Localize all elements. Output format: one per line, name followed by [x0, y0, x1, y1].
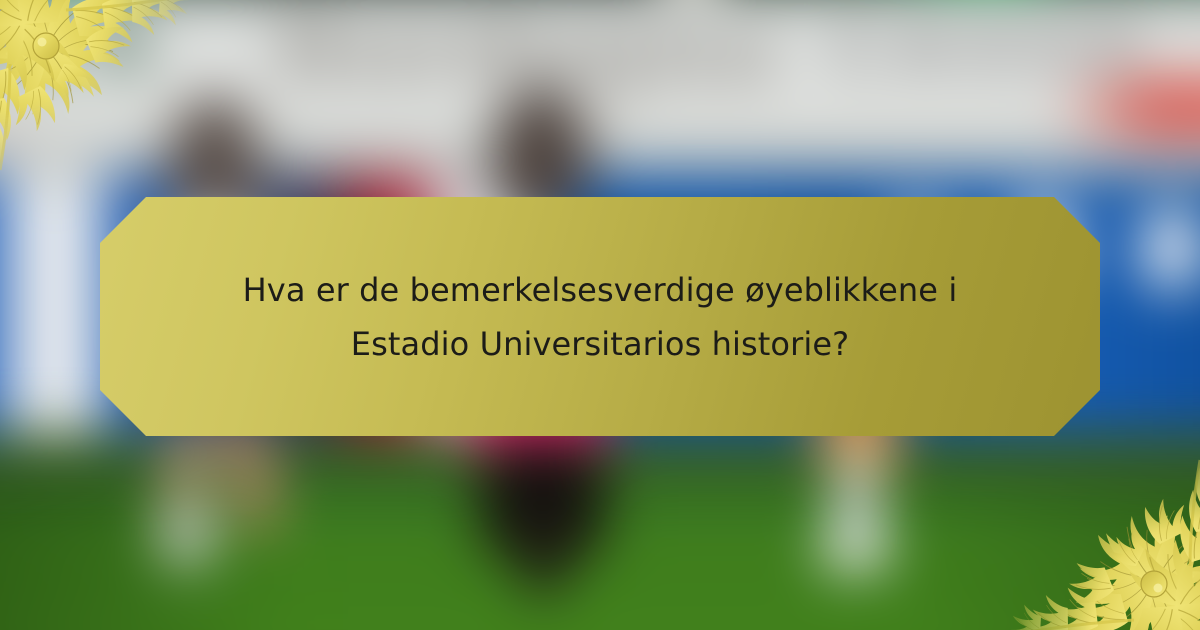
question-line-1: Hva er de bemerkelsesverdige øyeblikkene… [243, 271, 958, 309]
question-line-2: Estadio Universitarios historie? [351, 325, 849, 363]
question-title: Hva er de bemerkelsesverdige øyeblikkene… [152, 263, 1048, 371]
red-board-strip [1056, 77, 1200, 141]
ad-text-left: BER [0, 0, 174, 108]
social-share-card: BER Bordogna CASSE ESTE [0, 0, 1200, 630]
pitch-vignette [0, 469, 1200, 630]
question-banner: Hva er de bemerkelsesverdige øyeblikkene… [100, 197, 1100, 436]
ad-text-sub: ESTE [0, 117, 28, 149]
